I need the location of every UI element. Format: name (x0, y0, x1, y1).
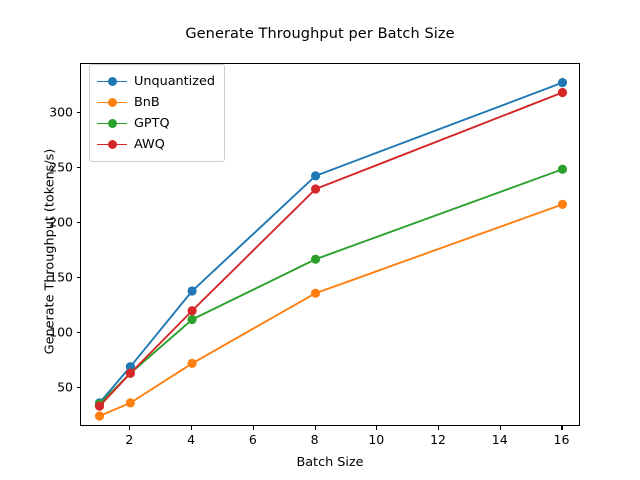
x-tick-label: 12 (430, 432, 446, 447)
data-point (558, 200, 567, 209)
legend-item-unquantized[interactable]: Unquantized (97, 71, 215, 92)
x-tick-mark (438, 426, 439, 430)
x-tick-mark (376, 426, 377, 430)
chart-legend[interactable]: UnquantizedBnBGPTQAWQ (89, 64, 225, 162)
y-tick-label: 300 (49, 105, 73, 120)
series-line (100, 204, 563, 416)
chart-title: Generate Throughput per Batch Size (0, 26, 640, 42)
legend-label: GPTQ (134, 116, 170, 131)
x-tick-mark (191, 426, 192, 430)
x-tick-mark (500, 426, 501, 430)
data-point (126, 398, 135, 407)
legend-item-awq[interactable]: AWQ (97, 134, 215, 155)
y-tick-mark (77, 277, 81, 278)
legend-label: BnB (134, 95, 160, 110)
series-gptq (95, 165, 567, 409)
x-tick-label: 2 (125, 432, 133, 447)
y-tick-mark (77, 222, 81, 223)
x-tick-mark (253, 426, 254, 430)
data-point (188, 306, 197, 315)
data-point (311, 255, 320, 264)
x-tick-label: 14 (492, 432, 508, 447)
data-point (311, 184, 320, 193)
x-tick-label: 4 (187, 432, 195, 447)
data-point (558, 88, 567, 97)
data-point (95, 402, 104, 411)
x-tick-mark (129, 426, 130, 430)
legend-item-bnb[interactable]: BnB (97, 92, 215, 113)
y-tick-label: 150 (49, 269, 73, 284)
legend-marker-icon (97, 138, 127, 152)
series-line (100, 169, 563, 404)
y-tick-label: 250 (49, 160, 73, 175)
x-tick-mark (315, 426, 316, 430)
y-axis-label: Generate Throughput (tokens/s) (43, 112, 58, 392)
legend-marker-icon (97, 117, 127, 131)
legend-marker-icon (97, 96, 127, 110)
y-tick-mark (77, 112, 81, 113)
x-tick-mark (561, 426, 562, 430)
x-tick-label: 8 (311, 432, 319, 447)
y-tick-mark (77, 167, 81, 168)
y-tick-mark (77, 332, 81, 333)
legend-marker-icon (97, 75, 127, 89)
data-point (311, 289, 320, 298)
data-point (188, 286, 197, 295)
data-point (126, 369, 135, 378)
y-tick-label: 200 (49, 215, 73, 230)
x-tick-label: 6 (249, 432, 257, 447)
legend-label: AWQ (134, 137, 165, 152)
chart-figure: Generate Throughput per Batch Size Gener… (0, 0, 640, 480)
x-axis-label: Batch Size (80, 455, 580, 470)
data-point (558, 78, 567, 87)
data-point (188, 315, 197, 324)
data-point (188, 359, 197, 368)
y-tick-label: 100 (49, 324, 73, 339)
legend-item-gptq[interactable]: GPTQ (97, 113, 215, 134)
data-point (95, 411, 104, 420)
y-tick-mark (77, 387, 81, 388)
data-point (558, 165, 567, 174)
x-tick-label: 16 (554, 432, 570, 447)
y-tick-label: 50 (57, 379, 73, 394)
data-point (311, 171, 320, 180)
legend-label: Unquantized (134, 74, 215, 89)
series-bnb (95, 200, 567, 421)
x-tick-label: 10 (368, 432, 384, 447)
